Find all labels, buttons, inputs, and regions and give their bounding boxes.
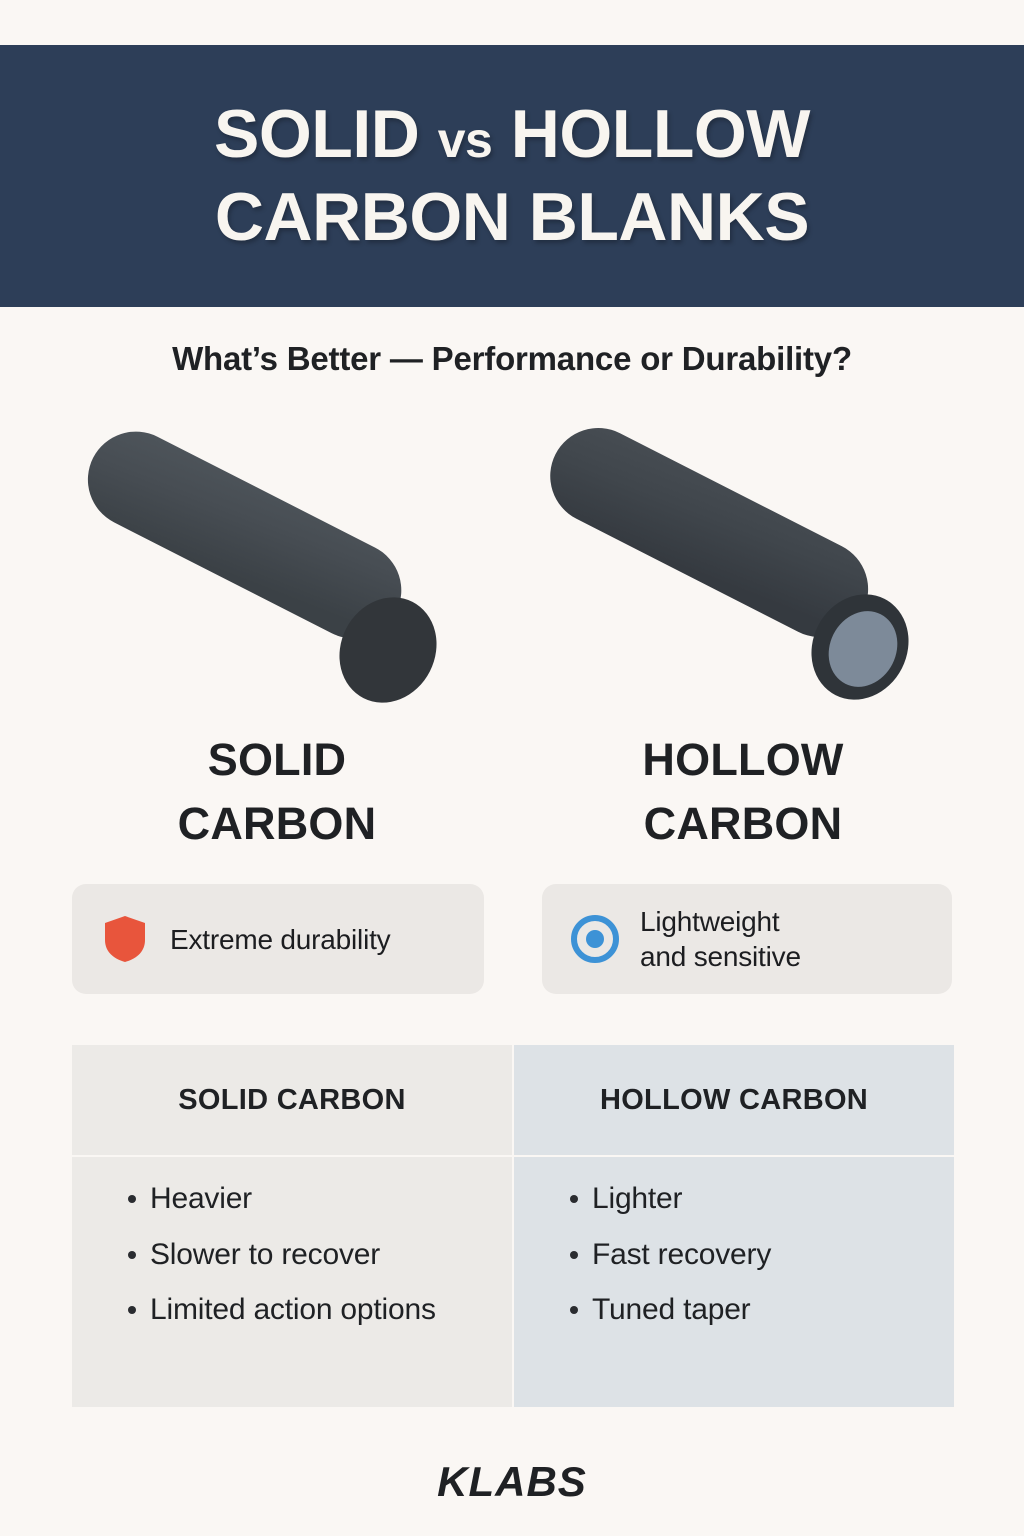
feature-badges: Extreme durability Lightweight and sensi…: [0, 884, 1024, 996]
table-header-hollow-carbon: HOLLOW CARBON: [514, 1045, 954, 1155]
list-item: Slower to recover: [150, 1235, 450, 1275]
header-title-line-2: CARBON BLANKS: [215, 176, 809, 259]
list-item: Limited action options: [150, 1290, 450, 1330]
table-cell-solid-carbon: Heavier Slower to recover Limited action…: [72, 1157, 512, 1407]
solid-rod-svg: [55, 425, 505, 725]
target-ring-icon: [570, 912, 620, 966]
list-item: Heavier: [150, 1179, 450, 1219]
column-headings: SOLID CARBON HOLLOW CARBON: [0, 728, 1024, 863]
table-cell-hollow-carbon: Lighter Fast recovery Tuned taper: [514, 1157, 954, 1407]
header-title-hollow: HOLLOW: [511, 96, 810, 172]
page-subtitle: What’s Better — Performance or Durabilit…: [0, 340, 1024, 378]
hollow-carbon-heading-line2: CARBON: [528, 792, 958, 856]
list-item: Lighter: [592, 1179, 922, 1219]
target-ring-icon-svg: [570, 914, 620, 964]
solid-carbon-heading-line1: SOLID: [62, 728, 492, 792]
list-item: Fast recovery: [592, 1235, 922, 1275]
badge-lightweight-sensitive-label: Lightweight and sensitive: [640, 904, 801, 974]
list-item: Tuned taper: [592, 1290, 922, 1330]
comparison-table: SOLID CARBON HOLLOW CARBON Heavier Slowe…: [72, 1045, 952, 1405]
header-banner: SOLID vs HOLLOW CARBON BLANKS: [0, 45, 1024, 307]
shield-icon-svg: [103, 914, 147, 964]
badge-extreme-durability: Extreme durability: [72, 884, 484, 994]
table-header-solid-carbon: SOLID CARBON: [72, 1045, 512, 1155]
hollow-carbon-list: Lighter Fast recovery Tuned taper: [566, 1179, 954, 1330]
header-title-solid: SOLID: [214, 96, 419, 172]
brand-logo: KLABS: [0, 1458, 1024, 1506]
solid-carbon-list: Heavier Slower to recover Limited action…: [124, 1179, 512, 1330]
solid-carbon-heading: SOLID CARBON: [62, 728, 492, 856]
rod-illustrations: [0, 425, 1024, 725]
badge-lightweight-sensitive: Lightweight and sensitive: [542, 884, 952, 994]
header-title-vs: vs: [438, 112, 493, 168]
hollow-rod-svg: [520, 425, 970, 725]
badge-extreme-durability-label: Extreme durability: [170, 922, 390, 957]
hollow-carbon-heading-line1: HOLLOW: [528, 728, 958, 792]
solid-carbon-heading-line2: CARBON: [62, 792, 492, 856]
hollow-carbon-rod: [520, 425, 970, 725]
header-title-line-1: SOLID vs HOLLOW: [214, 93, 810, 176]
hollow-carbon-heading: HOLLOW CARBON: [528, 728, 958, 856]
solid-carbon-rod: [55, 425, 505, 725]
badge-lightweight-line1: Lightweight: [640, 906, 779, 937]
badge-lightweight-line2: and sensitive: [640, 941, 801, 972]
shield-icon: [100, 912, 150, 966]
